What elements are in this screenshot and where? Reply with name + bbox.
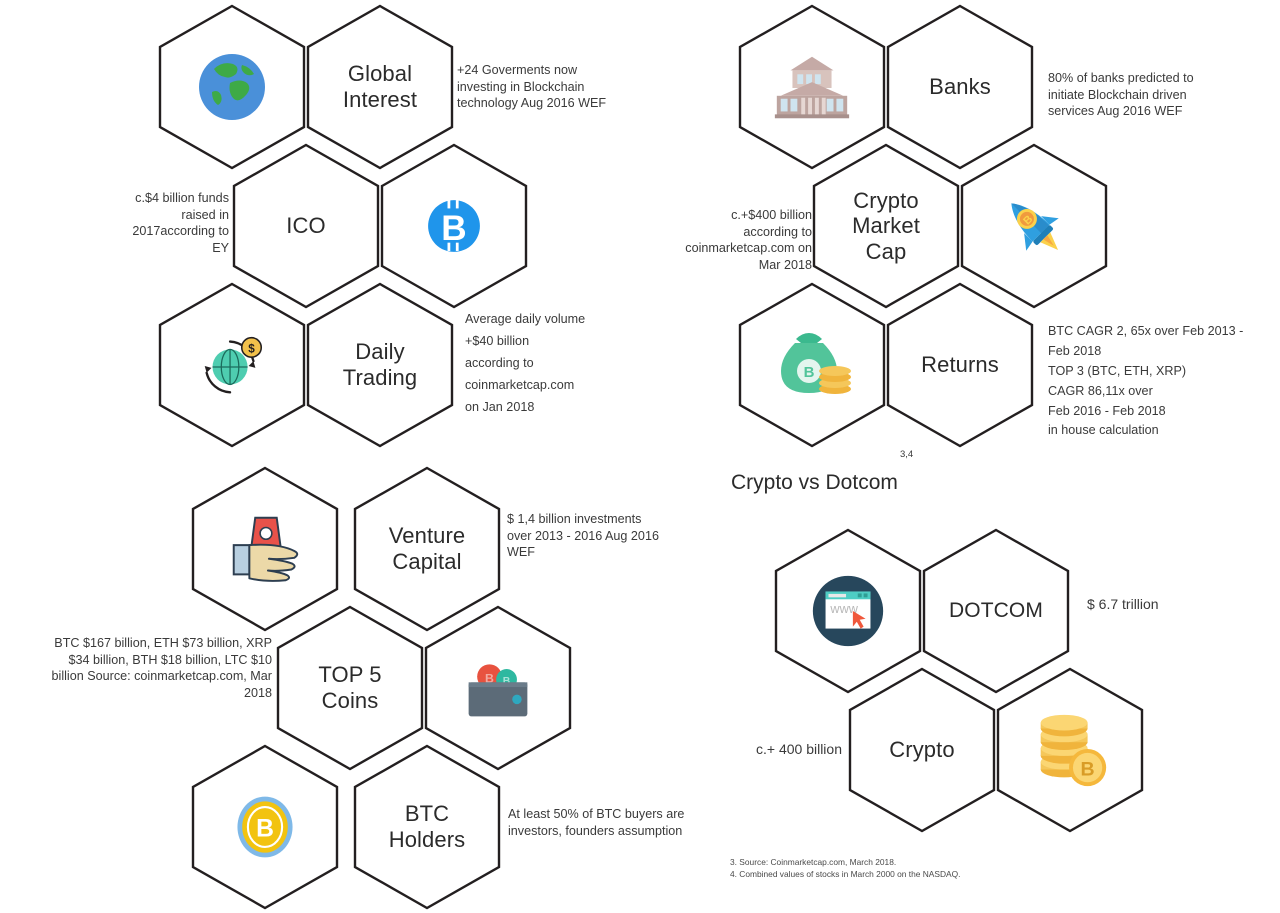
note-top5-coins: BTC $167 billion, ETH $73 billion, XRP $… bbox=[10, 635, 272, 702]
note-venture-capital: $ 1,4 billion investments over 2013 - 20… bbox=[507, 511, 692, 561]
bank-building-icon bbox=[769, 44, 855, 130]
svg-text:B: B bbox=[804, 364, 815, 381]
globe-icon bbox=[189, 44, 275, 130]
svg-text:B: B bbox=[1081, 758, 1095, 780]
hex-money-bag[interactable]: B bbox=[738, 282, 886, 448]
hex-title-ico: ICO bbox=[280, 213, 331, 239]
hex-global-exchange[interactable]: $ bbox=[158, 282, 306, 448]
note-dotcom: $ 6.7 trillion bbox=[1087, 595, 1237, 614]
note-ico: c.$4 billion funds raised in 2017accordi… bbox=[104, 190, 229, 257]
hex-coin-stack[interactable]: B bbox=[996, 667, 1144, 833]
bitcoin-circle-icon: B bbox=[411, 183, 497, 269]
hex-daily-trading[interactable]: Daily Trading bbox=[306, 282, 454, 448]
note-global-interest: +24 Goverments now investing in Blockcha… bbox=[457, 62, 637, 112]
browser-www-icon: www bbox=[805, 568, 891, 654]
hex-title-daily-trading: Daily Trading bbox=[337, 339, 423, 390]
hex-title-banks: Banks bbox=[923, 74, 997, 100]
hex-title-crypto-market-cap: Crypto Market Cap bbox=[846, 188, 926, 265]
global-exchange-icon: $ bbox=[189, 322, 275, 408]
hex-crypto[interactable]: Crypto bbox=[848, 667, 996, 833]
hex-bitcoin-coin[interactable]: B bbox=[191, 744, 339, 910]
rocket-icon: B bbox=[991, 183, 1077, 269]
section-title-crypto-vs-dotcom: Crypto vs Dotcom bbox=[731, 471, 898, 495]
note-returns: BTC CAGR 2, 65x over Feb 2013 - Feb 2018… bbox=[1048, 322, 1273, 441]
bitcoin-coin-icon: B bbox=[222, 784, 308, 870]
hand-money-icon bbox=[222, 506, 308, 592]
hex-title-dotcom: DOTCOM bbox=[943, 599, 1049, 623]
crypto-vs-dotcom-superscript: 3,4 bbox=[900, 449, 913, 460]
svg-text:B: B bbox=[256, 816, 274, 843]
note-banks: 80% of banks predicted to initiate Block… bbox=[1048, 70, 1238, 120]
note-crypto: c.+ 400 billion bbox=[712, 740, 842, 759]
infographic-canvas: Global Interest +24 Goverments now inves… bbox=[0, 0, 1280, 913]
hex-title-venture-capital: Venture Capital bbox=[383, 523, 472, 574]
hex-title-top5-coins: TOP 5 Coins bbox=[312, 662, 387, 713]
note-daily-trading: Average daily volume +$40 billion accord… bbox=[465, 308, 655, 418]
hex-btc-holders[interactable]: BTC Holders bbox=[353, 744, 501, 910]
svg-text:$: $ bbox=[248, 342, 255, 355]
footnotes: 3. Source: Coinmarketcap.com, March 2018… bbox=[730, 856, 1150, 880]
hex-title-btc-holders: BTC Holders bbox=[383, 801, 472, 852]
coin-stack-icon: B bbox=[1027, 707, 1113, 793]
note-crypto-market-cap: c.+$400 billion according to coinmarketc… bbox=[664, 207, 812, 274]
money-bag-icon: B bbox=[769, 322, 855, 408]
wallet-coins-icon: B B bbox=[455, 645, 541, 731]
hex-returns[interactable]: Returns bbox=[886, 282, 1034, 448]
hex-title-global-interest: Global Interest bbox=[337, 61, 423, 112]
hex-title-returns: Returns bbox=[915, 352, 1005, 378]
note-btc-holders: At least 50% of BTC buyers are investors… bbox=[508, 806, 723, 839]
hex-title-crypto: Crypto bbox=[883, 737, 960, 763]
svg-text:B: B bbox=[441, 209, 466, 248]
